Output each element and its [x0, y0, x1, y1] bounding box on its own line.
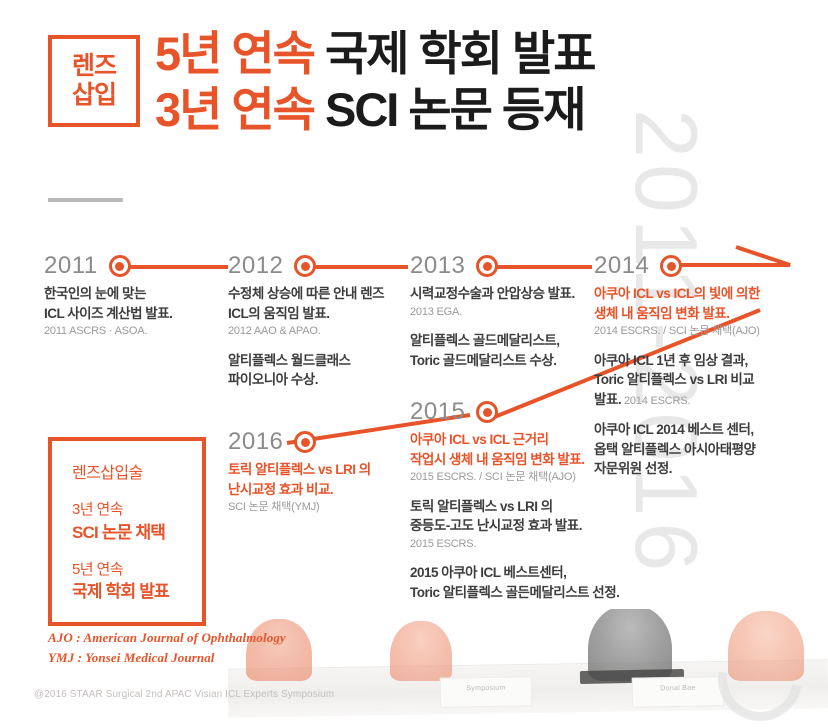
- entry-block: 수정체 상승에 따른 안내 렌즈 ICL의 움직임 발표. 2012 AAO &…: [228, 284, 408, 340]
- entry-block: 알티플렉스 월드클래스 파이오니아 수상.: [228, 351, 408, 390]
- block-sub-text: 2015 ESCRS.: [410, 536, 625, 553]
- block-main-text: 알티플렉스 월드클래스 파이오니아 수상.: [228, 351, 408, 390]
- timeline-entry-2012: 2012 수정체 상승에 따른 안내 렌즈 ICL의 움직임 발표. 2012 …: [228, 252, 408, 390]
- summary-big-text: 국제 학회 발표: [72, 580, 202, 604]
- block-sub-text: 2012 AAO & APAO.: [228, 323, 408, 340]
- headline-row-2: 3년 연속 SCI 논문 등재: [155, 82, 595, 138]
- entry-block: 토릭 알티플렉스 vs LRI 의 난시교정 효과 비교. SCI 논문 채택(…: [228, 460, 408, 516]
- year-label-2012: 2012: [228, 254, 283, 278]
- summary-title: 렌즈삽입술: [72, 459, 202, 483]
- timeline-dot-2014: [660, 255, 682, 277]
- block-sub-text: 2011 ASCRS · ASOA.: [44, 323, 219, 340]
- entry-block: 알티플렉스 골드메달리스트, Toric 골드메달리스트 수상.: [410, 331, 600, 370]
- block-main-text: 아쿠아 ICL vs ICL의 빛에 의한 생체 내 움직임 변화 발표.: [594, 284, 790, 323]
- headline-2-dark: SCI 논문 등재: [314, 83, 584, 136]
- timeline-entry-2011: 2011 한국인의 눈에 맞는 ICL 사이즈 계산법 발표. 2011 ASC…: [44, 252, 219, 340]
- block-main-text: 수정체 상승에 따른 안내 렌즈 ICL의 움직임 발표.: [228, 284, 408, 323]
- block-inline-sub-text: 2014 ESCRS.: [621, 395, 690, 407]
- summary-small-text: 5년 연속: [72, 559, 202, 581]
- block-main-text: 알티플렉스 골드메달리스트, Toric 골드메달리스트 수상.: [410, 331, 600, 370]
- headline-1-accent: 5년 연속: [155, 27, 314, 80]
- entry-head-2013: 2013: [410, 252, 600, 280]
- block-main-text: 2015 아쿠아 ICL 베스트센터, Toric 알티플렉스 골든메달리스트 …: [410, 563, 625, 602]
- year-label-2015: 2015: [410, 400, 465, 424]
- entry-block: 시력교정수술과 안압상승 발표. 2013 EGA.: [410, 284, 600, 320]
- entry-head-2011: 2011: [44, 252, 219, 280]
- summary-group-conference: 5년 연속 국제 학회 발표: [72, 559, 202, 605]
- year-label-2014: 2014: [594, 254, 649, 278]
- entry-head-2012: 2012: [228, 252, 408, 280]
- timeline-dot-2013: [476, 255, 498, 277]
- footnote-ymj: YMJ : Yonsei Medical Journal: [48, 648, 286, 668]
- entry-block: 한국인의 눈에 맞는 ICL 사이즈 계산법 발표. 2011 ASCRS · …: [44, 284, 219, 340]
- headline-1-dark: 국제 학회 발표: [314, 27, 595, 80]
- block-sub-text: 2015 ESCRS. / SCI 논문 채택(AJO): [410, 469, 625, 486]
- summary-big-text: SCI 논문 채택: [72, 521, 202, 545]
- badge-line-1: 렌즈: [72, 52, 116, 81]
- block-main-text: 한국인의 눈에 맞는 ICL 사이즈 계산법 발표.: [44, 284, 219, 323]
- footnotes: AJO : American Journal of Ophthalmology …: [48, 628, 286, 668]
- summary-small-text: 3년 연속: [72, 499, 202, 521]
- footnote-ajo: AJO : American Journal of Ophthalmology: [48, 628, 286, 648]
- badge-line-2: 삽입: [72, 81, 116, 110]
- timeline-dot-2016: [294, 431, 316, 453]
- timeline-dot-2015: [476, 401, 498, 423]
- timeline-entry-2015: 2015 아쿠아 ICL vs ICL 근거리 작업시 생체 내 움직임 변화 …: [410, 398, 625, 602]
- block-main-text: 시력교정수술과 안압상승 발표.: [410, 284, 600, 304]
- page-title: 5년 연속 국제 학회 발표 3년 연속 SCI 논문 등재: [155, 26, 595, 139]
- entry-head-2016: 2016: [228, 428, 408, 456]
- year-label-2013: 2013: [410, 254, 465, 278]
- timeline-entry-2013: 2013 시력교정수술과 안압상승 발표. 2013 EGA. 알티플렉스 골드…: [410, 252, 600, 370]
- year-label-2011: 2011: [44, 254, 98, 278]
- headline-row-1: 5년 연속 국제 학회 발표: [155, 26, 595, 82]
- summary-group-sci: 3년 연속 SCI 논문 채택: [72, 499, 202, 545]
- timeline-entry-2016: 2016 토릭 알티플렉스 vs LRI 의 난시교정 효과 비교. SCI 논…: [228, 428, 408, 516]
- entry-block: 아쿠아 ICL vs ICL 근거리 작업시 생체 내 움직임 변화 발표. 2…: [410, 430, 625, 486]
- header-divider: [48, 198, 123, 202]
- block-sub-text: 2014 ESCRS. / SCI 논문 채택(AJO): [594, 323, 790, 340]
- summary-box: 렌즈삽입술 3년 연속 SCI 논문 채택 5년 연속 국제 학회 발표: [48, 437, 206, 626]
- entry-head-2015: 2015: [410, 398, 625, 426]
- entry-block: 토릭 알티플렉스 vs LRI 의 중등도-고도 난시교정 효과 발표. 201…: [410, 497, 625, 553]
- entry-block: 아쿠아 ICL vs ICL의 빛에 의한 생체 내 움직임 변화 발표. 20…: [594, 284, 790, 340]
- block-main-text: 토릭 알티플렉스 vs LRI 의 난시교정 효과 비교.: [228, 460, 408, 499]
- block-sub-text: SCI 논문 채택(YMJ): [228, 499, 408, 516]
- entry-head-2014: 2014: [594, 252, 790, 280]
- block-sub-text: 2013 EGA.: [410, 304, 600, 321]
- year-label-2016: 2016: [228, 430, 283, 454]
- lens-insertion-badge: 렌즈 삽입: [48, 35, 140, 127]
- timeline-dot-2012: [294, 255, 316, 277]
- timeline-dot-2011: [109, 255, 131, 277]
- block-main-text: 토릭 알티플렉스 vs LRI 의 중등도-고도 난시교정 효과 발표.: [410, 497, 625, 536]
- copyright-notice: @2016 STAAR Surgical 2nd APAC Visian ICL…: [34, 689, 334, 700]
- headline-2-accent: 3년 연속: [155, 83, 314, 136]
- infographic-page: 2011-2016 Symposium Donal Bae 렌즈 삽입 5년 연…: [0, 0, 828, 727]
- block-main-text: 아쿠아 ICL vs ICL 근거리 작업시 생체 내 움직임 변화 발표.: [410, 430, 625, 469]
- entry-block: 2015 아쿠아 ICL 베스트센터, Toric 알티플렉스 골든메달리스트 …: [410, 563, 625, 602]
